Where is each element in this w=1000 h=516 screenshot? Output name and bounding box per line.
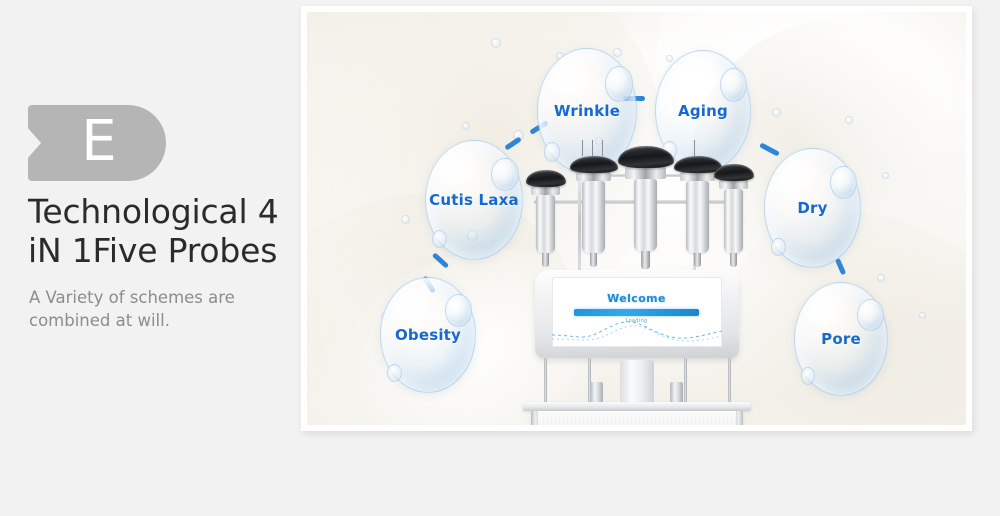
probe-tip — [730, 253, 736, 267]
stand-leg — [544, 358, 547, 406]
bubble-label: Pore — [821, 330, 861, 348]
probe-collar — [680, 172, 716, 181]
probe-body — [536, 195, 554, 253]
cabinet-edge — [736, 411, 743, 425]
probe-head — [526, 170, 566, 187]
probe-head — [570, 156, 618, 173]
bubble-gloss — [546, 54, 602, 105]
connector-dash — [835, 258, 846, 276]
probe-handle[interactable] — [526, 170, 566, 274]
probe-antenna — [592, 140, 594, 156]
bubble-gloss — [434, 146, 488, 195]
bubble-gloss — [773, 154, 827, 203]
probe-antenna — [582, 140, 584, 156]
bubble-droplet-icon — [445, 294, 472, 327]
micro-bubble — [772, 108, 781, 117]
page-title: Technological 4 iN 1Five Probes — [28, 193, 308, 271]
bubble-cutis-laxa[interactable]: Cutis Laxa — [425, 140, 523, 260]
bubble-minidrop-icon — [432, 230, 447, 249]
probe-handle[interactable] — [570, 156, 618, 274]
bubble-gloss — [803, 287, 855, 334]
micro-bubble — [666, 55, 673, 62]
micro-bubble — [877, 274, 885, 282]
probe-collar — [531, 186, 561, 195]
micro-bubble — [462, 122, 470, 130]
probe-body — [582, 181, 604, 253]
bubble-label: Dry — [797, 199, 827, 217]
bubble-droplet-icon — [605, 66, 633, 101]
bubble-droplet-icon — [491, 158, 519, 192]
section-badge: E — [28, 105, 166, 181]
probe-antenna — [694, 140, 696, 156]
screen-welcome-text: Welcome — [552, 292, 722, 305]
bubble-minidrop-icon — [387, 364, 402, 382]
bubble-pore[interactable]: Pore — [794, 282, 888, 396]
micro-bubble — [919, 312, 926, 319]
probe-head — [618, 146, 674, 168]
connector-dash — [759, 142, 780, 156]
bubble-minidrop-icon — [801, 367, 816, 385]
connector-dash — [432, 252, 449, 268]
bubble-droplet-icon — [857, 299, 884, 331]
machine-display[interactable]: Welcome Loading — [552, 277, 722, 347]
probe-collar — [719, 180, 749, 189]
cabinet-edge — [531, 411, 538, 425]
bubble-gloss — [389, 283, 442, 331]
screen-waveform-icon — [552, 317, 722, 343]
probe-handle[interactable] — [714, 164, 754, 274]
micro-bubble — [491, 38, 501, 48]
probe-body — [724, 189, 742, 253]
section-badge-letter: E — [81, 114, 116, 170]
bubble-droplet-icon — [720, 68, 747, 102]
micro-bubble — [845, 116, 853, 124]
product-photo: Wrinkle Aging Cutis Laxa Dry Obesity — [307, 12, 966, 425]
bubble-label: Obesity — [395, 326, 461, 344]
probe-tip — [694, 253, 702, 267]
micro-bubble — [401, 215, 410, 224]
left-text-column: E Technological 4 iN 1Five Probes A Vari… — [0, 0, 300, 516]
probe-body — [634, 179, 656, 251]
bubble-minidrop-icon — [771, 238, 786, 257]
micro-bubble — [882, 172, 889, 179]
bubble-gloss — [664, 56, 718, 106]
stand-leg — [684, 358, 687, 404]
probe-tip — [542, 253, 548, 267]
bubble-label: Wrinkle — [554, 102, 620, 120]
probe-rack — [518, 134, 756, 274]
probe-collar — [576, 172, 612, 181]
stand-leg — [728, 358, 731, 406]
bubble-label: Cutis Laxa — [429, 191, 519, 209]
probe-tip — [641, 251, 650, 269]
base-top-plate — [523, 402, 751, 411]
bubble-obesity[interactable]: Obesity — [380, 277, 476, 393]
probe-antenna — [602, 140, 604, 156]
product-image-panel: Wrinkle Aging Cutis Laxa Dry Obesity — [301, 6, 972, 431]
probe-tip — [590, 253, 598, 267]
probe-body — [686, 181, 708, 253]
machine-console: Welcome Loading — [535, 270, 739, 358]
probe-head — [714, 164, 754, 181]
page-subtitle: A Variety of schemes are combined at wil… — [29, 286, 294, 333]
stand-column — [620, 360, 654, 404]
probe-handle[interactable] — [618, 146, 674, 274]
bubble-dry[interactable]: Dry — [764, 148, 861, 268]
beauty-machine: Welcome Loading — [518, 134, 756, 425]
base-cabinet — [531, 411, 743, 425]
bubble-label: Aging — [678, 102, 728, 120]
screen-progress-bar — [574, 309, 700, 316]
chevron-notch-icon — [27, 127, 41, 159]
probe-collar — [625, 167, 666, 179]
bubble-droplet-icon — [830, 166, 858, 200]
micro-bubble — [613, 48, 622, 57]
